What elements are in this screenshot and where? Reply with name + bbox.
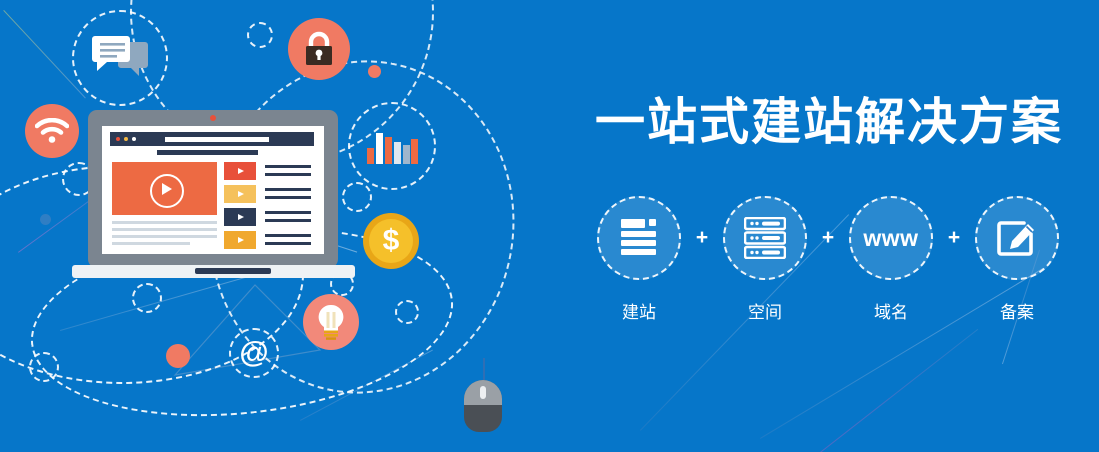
mouse-cable (483, 358, 485, 382)
coin-dollar-icon: $ (363, 213, 419, 269)
page-subtitle-bar (157, 150, 258, 155)
feature-label: 建站 (622, 298, 656, 323)
browser-url-bar (165, 137, 269, 142)
lightbulb-icon-badge (303, 294, 359, 350)
text-line (265, 173, 311, 176)
decorative-line (820, 329, 978, 452)
video-thumbnail (224, 208, 256, 226)
laptop-illustration (88, 110, 378, 280)
play-icon (238, 191, 244, 197)
plus-separator: + (935, 196, 973, 280)
text-line (112, 235, 217, 238)
decorative-dot (166, 344, 190, 368)
mouse-scroll-wheel (480, 386, 486, 399)
bar-chart-icon (366, 128, 418, 164)
hero-video-thumbnail (112, 162, 217, 215)
promo-banner: $ @ 一站式建站解决方案 (0, 0, 1099, 452)
lightbulb-icon (317, 304, 345, 340)
mouse-body (464, 380, 502, 432)
text-line (265, 196, 311, 199)
decorative-ring (247, 22, 273, 48)
play-icon (238, 237, 244, 243)
wifi-icon-badge (25, 104, 79, 158)
text-line (265, 242, 311, 245)
feature-label: 域名 (874, 298, 908, 323)
laptop-screen (102, 126, 324, 254)
decorative-dot (40, 214, 51, 225)
video-thumbnail (224, 185, 256, 203)
dollar-symbol: $ (383, 226, 400, 256)
feature-circle[interactable] (723, 196, 807, 280)
text-line (265, 234, 311, 237)
text-line (265, 219, 311, 222)
text-line (112, 228, 217, 231)
lock-icon-badge (288, 18, 350, 80)
feature-circle[interactable]: www (849, 196, 933, 280)
lock-icon (302, 31, 336, 67)
laptop-camera-dot (210, 115, 216, 121)
plus-separator: + (809, 196, 847, 280)
page-title: 一站式建站解决方案 (595, 97, 1063, 147)
plus-separator: + (683, 196, 721, 280)
chat-bubble-icon-ring (72, 10, 168, 106)
at-sign-icon-ring: @ (229, 328, 279, 378)
video-thumbnail (224, 231, 256, 249)
at-symbol: @ (239, 338, 268, 368)
decorative-ring (395, 300, 419, 324)
text-line (265, 165, 311, 168)
text-line (112, 242, 190, 245)
feature-row: 建站 + 空间 (595, 196, 1061, 323)
video-thumbnail (224, 162, 256, 180)
feature-item-filing[interactable]: 备案 (973, 196, 1061, 323)
traffic-light-red (116, 137, 120, 141)
feature-label: 空间 (748, 298, 782, 323)
play-icon (238, 214, 244, 220)
traffic-light-yellow (124, 137, 128, 141)
browser-bar (110, 132, 314, 146)
server-rack-icon (744, 217, 786, 259)
text-line (265, 188, 311, 191)
feature-item-domain[interactable]: www 域名 (847, 196, 935, 323)
feature-circle[interactable] (975, 196, 1059, 280)
laptop-trackpad (195, 268, 271, 274)
text-line (265, 211, 311, 214)
feature-circle[interactable] (597, 196, 681, 280)
play-icon (238, 168, 244, 174)
decorative-ring (29, 352, 59, 382)
edit-pencil-icon (996, 217, 1038, 259)
feature-item-website[interactable]: 建站 (595, 196, 683, 323)
document-layout-icon (619, 217, 659, 259)
decorative-ring (132, 283, 162, 313)
wifi-icon (35, 118, 69, 144)
decorative-dot (368, 65, 381, 78)
traffic-light-white (132, 137, 136, 141)
chat-bubble-icon (91, 36, 149, 80)
feature-item-hosting[interactable]: 空间 (721, 196, 809, 323)
text-line (112, 221, 217, 224)
www-text-icon: www (863, 225, 918, 252)
bar-chart-icon-ring (348, 102, 436, 190)
feature-label: 备案 (1000, 298, 1034, 323)
play-button-triangle (162, 183, 172, 195)
